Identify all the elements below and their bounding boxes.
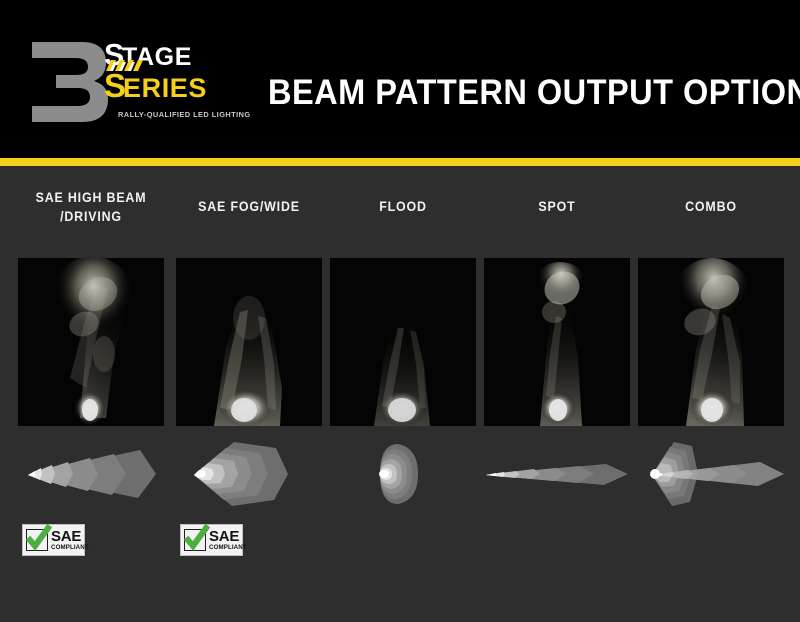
accent-divider [0, 158, 800, 166]
sae-compliant-badge: SAE COMPLIANT [22, 524, 85, 556]
beam-pattern-round-oval [322, 438, 484, 510]
column-header-sae-fog-wide: SAE FOG/WIDE [176, 197, 321, 216]
column-flood: FLOOD [330, 166, 476, 622]
beam-photo-combo [638, 258, 784, 426]
column-header-line1: SAE FOG/WIDE [198, 199, 300, 214]
column-combo: COMBO [638, 166, 784, 622]
check-mark-icon [24, 524, 54, 554]
column-header-flood: FLOOD [330, 197, 475, 216]
checkbox-outline [184, 529, 206, 551]
logo-wordmark: S TAGE [104, 38, 244, 130]
column-header-line1: SAE HIGH BEAM [36, 190, 147, 205]
sae-compliant-badge: SAE COMPLIANT [180, 524, 243, 556]
column-header-line1: COMBO [685, 199, 737, 214]
svg-text:ERIES: ERIES [123, 73, 207, 103]
column-header-sae-high-beam-driving: SAE HIGH BEAM /DRIVING [18, 188, 163, 226]
sae-badge-subtitle: COMPLIANT [51, 544, 89, 551]
column-header-combo: COMBO [638, 197, 783, 216]
stage-series-logo: S TAGE [26, 30, 238, 130]
sae-badge-title: SAE [51, 529, 81, 544]
beam-pattern-fan-plus-spot [630, 438, 792, 510]
column-sae-high-beam-driving: SAE HIGH BEAM /DRIVING [18, 166, 164, 622]
beam-pattern-chart: S TAGE [0, 0, 800, 622]
logo-series-word-icon: S ERIES [104, 68, 244, 104]
beam-photo-flood [330, 258, 476, 426]
check-mark-icon [182, 524, 212, 554]
logo-tagline: RALLY-QUALIFIED LED LIGHTING [118, 110, 251, 119]
sae-badge-title: SAE [209, 529, 239, 544]
beam-pattern-broad-fan [168, 438, 330, 510]
column-sae-fog-wide: SAE FOG/WIDE [176, 166, 322, 622]
beam-pattern-narrow-long-spot [476, 438, 638, 510]
column-header-spot: SPOT [484, 197, 629, 216]
beam-photo-sae-fog-wide [176, 258, 322, 426]
beam-photo-sae-high-beam-driving [18, 258, 164, 426]
sae-badge-subtitle: COMPLIANT [209, 544, 247, 551]
column-header-line1: SPOT [538, 199, 575, 214]
column-header-line2: /DRIVING [60, 209, 122, 224]
beam-photo-spot [484, 258, 630, 426]
page-title: BEAM PATTERN OUTPUT OPTIONS [268, 73, 800, 113]
header-bar: S TAGE [0, 0, 800, 158]
column-spot: SPOT [484, 166, 630, 622]
column-header-line1: FLOOD [379, 199, 427, 214]
beam-pattern-wide-long-cone [10, 438, 172, 510]
checkbox-outline [26, 529, 48, 551]
